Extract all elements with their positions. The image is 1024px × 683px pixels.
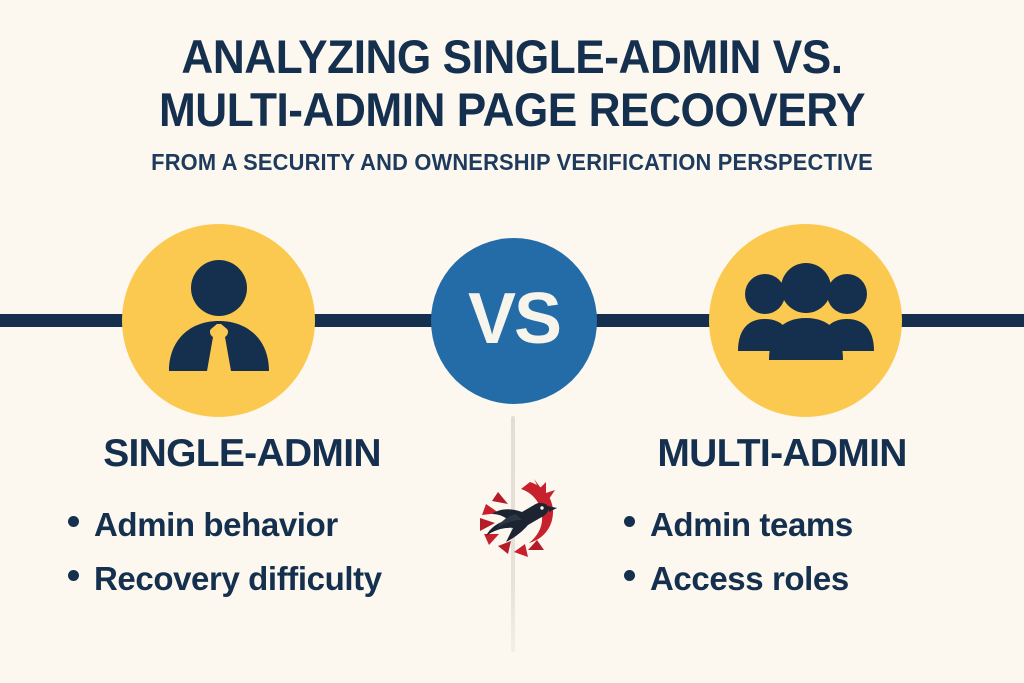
infographic-canvas: ANALYZING SINGLE-ADMIN VS. MULTI-ADMIN P… — [0, 0, 1024, 683]
single-admin-badge — [122, 224, 315, 417]
list-item-label: Recovery difficulty — [94, 552, 382, 606]
list-item-label: Admin teams — [650, 498, 853, 552]
list-item: Access roles — [624, 552, 1002, 606]
bullet-dot-icon — [624, 570, 635, 581]
vs-badge: VS — [431, 238, 597, 404]
list-item: Admin behavior — [68, 498, 462, 552]
single-admin-bullet-list: Admin behavior Recovery difficulty — [22, 498, 462, 606]
raven-with-red-flame-wings-logo — [468, 470, 560, 562]
page-title-line-1: ANALYZING SINGLE-ADMIN VS. — [31, 30, 994, 83]
list-item-label: Access roles — [650, 552, 849, 606]
single-admin-column: SINGLE-ADMIN Admin behavior Recovery dif… — [22, 432, 462, 606]
list-item: Recovery difficulty — [68, 552, 462, 606]
bullet-dot-icon — [68, 516, 79, 527]
multi-admin-badge — [709, 224, 902, 417]
page-title-line-2: MULTI-ADMIN PAGE RECOOVERY — [31, 83, 994, 136]
single-admin-heading: SINGLE-ADMIN — [22, 432, 462, 476]
list-item-label: Admin behavior — [94, 498, 338, 552]
multi-admin-column: MULTI-ADMIN Admin teams Access roles — [562, 432, 1002, 606]
page-subtitle: FROM A SECURITY AND OWNERSHIP VERIFICATI… — [26, 147, 999, 177]
bullet-dot-icon — [624, 516, 635, 527]
single-person-with-tie-icon — [159, 259, 279, 382]
multi-admin-bullet-list: Admin teams Access roles — [562, 498, 1002, 606]
vs-label: VS — [468, 283, 560, 355]
list-item: Admin teams — [624, 498, 1002, 552]
group-of-three-people-icon — [738, 263, 874, 378]
bullet-dot-icon — [68, 570, 79, 581]
header: ANALYZING SINGLE-ADMIN VS. MULTI-ADMIN P… — [0, 30, 1024, 177]
multi-admin-heading: MULTI-ADMIN — [562, 432, 1002, 476]
